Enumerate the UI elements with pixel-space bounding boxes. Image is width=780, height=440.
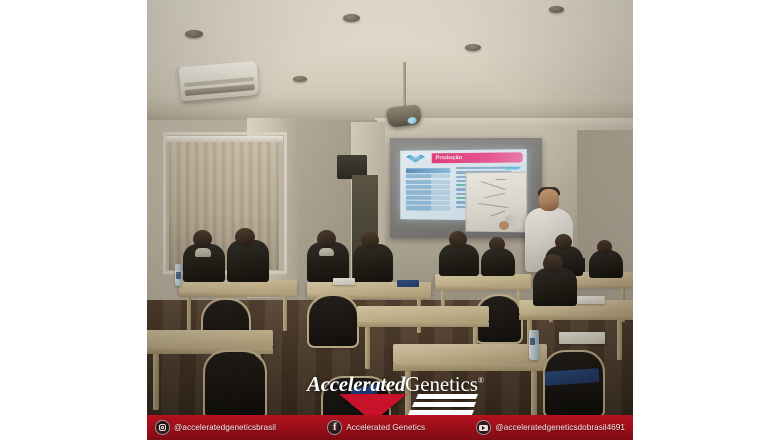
- paper: [559, 332, 605, 344]
- slide-data-table: [406, 168, 450, 212]
- attendee-head: [543, 254, 563, 273]
- seminar-photo: Produção: [147, 0, 633, 440]
- table-row: [406, 201, 450, 205]
- projector-mount-pole: [403, 62, 406, 110]
- social-item-facebook[interactable]: Accelerated Genetics: [327, 420, 425, 435]
- attendee-body: [439, 244, 479, 276]
- facebook-icon[interactable]: [327, 420, 342, 435]
- air-conditioner-icon: [179, 61, 260, 102]
- social-media-bar: @acceleratedgeneticsbrasil Accelerated G…: [147, 415, 633, 440]
- downlight-icon: [549, 6, 564, 13]
- attendee-head: [449, 231, 467, 248]
- table-row: [406, 195, 450, 199]
- table-row: [406, 180, 450, 184]
- presenter-head: [539, 189, 559, 211]
- downlight-icon: [465, 44, 481, 51]
- paper: [333, 278, 355, 285]
- attendee-head: [361, 232, 379, 249]
- social-handle-instagram: @acceleratedgeneticsbrasil: [174, 423, 276, 432]
- attendee-body: [589, 250, 623, 278]
- attendee-head: [235, 228, 255, 246]
- social-handle-youtube: @acceleratedgeneticsdobrasil4691: [495, 423, 625, 432]
- water-bottle: [529, 330, 539, 360]
- table-row: [406, 174, 450, 178]
- table-row: [406, 190, 450, 194]
- notebook: [397, 280, 419, 287]
- table: [147, 330, 273, 348]
- table: [357, 306, 489, 322]
- attendee-head: [489, 237, 505, 252]
- attendee-head: [555, 234, 572, 250]
- instagram-icon[interactable]: [155, 420, 170, 435]
- water-bottle: [175, 264, 182, 286]
- slide-highlight-chip: [505, 167, 518, 171]
- attendee-body: [533, 268, 577, 306]
- slide-title: Produção: [436, 153, 463, 162]
- attendee-head: [597, 240, 612, 254]
- attendee-body: [481, 248, 515, 276]
- attendee-body: [227, 240, 269, 282]
- attendee-head: [317, 230, 336, 248]
- downlight-icon: [185, 30, 203, 38]
- attendee-head: [193, 230, 212, 248]
- downlight-icon: [293, 76, 307, 82]
- image-canvas: Produção: [0, 0, 780, 440]
- downlight-icon: [343, 14, 360, 22]
- social-item-youtube[interactable]: @acceleratedgeneticsdobrasil4691: [476, 420, 625, 435]
- table-row: [406, 168, 450, 173]
- social-item-instagram[interactable]: @acceleratedgeneticsbrasil: [155, 420, 276, 435]
- social-handle-facebook: Accelerated Genetics: [346, 423, 425, 432]
- table-row: [406, 185, 450, 189]
- table-row: [406, 206, 450, 211]
- attendee-body: [353, 244, 393, 282]
- presenter-hand: [499, 221, 509, 230]
- paper: [577, 296, 605, 304]
- youtube-icon[interactable]: [476, 420, 491, 435]
- attendee-collar: [319, 248, 334, 256]
- table: [393, 344, 547, 364]
- attendee-collar: [195, 248, 211, 257]
